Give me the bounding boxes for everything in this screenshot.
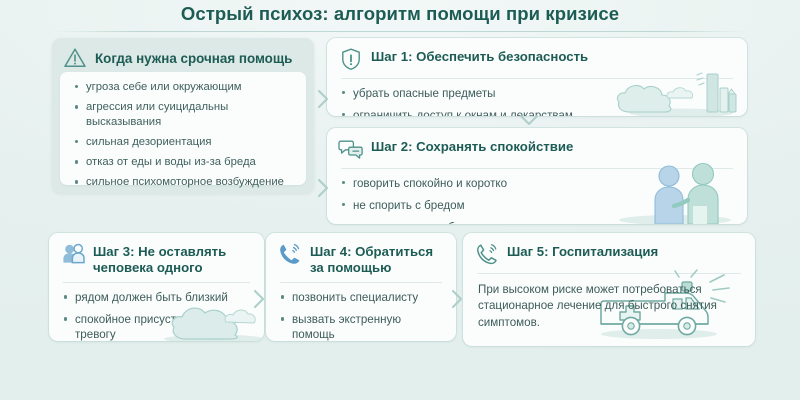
- step-3-list: рядом должен быть близкий спокойное прис…: [49, 283, 264, 341]
- step-4-list: позвонить специалисту вызвать экстренную…: [266, 283, 456, 341]
- list-item: отказ от еды и воды из-за бреда: [86, 155, 298, 170]
- shield-exclamation-icon: [338, 46, 364, 72]
- step-2-card: Шаг 2: Сохранять спокойствие говорить сп…: [327, 128, 747, 224]
- list-item: не спорить с бредом: [353, 198, 735, 213]
- urgent-help-list-box: угроза себе или окружающим агрессия или …: [60, 72, 306, 185]
- step-1-title: Шаг 1: Обеспечить безопасность: [371, 46, 588, 65]
- list-item: позвонить специалисту: [292, 290, 444, 305]
- connector-arrow-step-3-to-step-4: [252, 288, 266, 310]
- list-item: угроза себе или окружающим: [86, 80, 298, 95]
- warning-triangle-icon: [62, 45, 88, 71]
- urgent-help-title: Когда нужна срочная помощь: [95, 51, 292, 66]
- connector-arrow-step-1-to-step-2: [518, 113, 540, 127]
- connector-arrow-urgent-to-step-1: [316, 88, 330, 110]
- step-2-title: Шаг 2: Сохранять спокойствие: [371, 136, 573, 155]
- phone-ring-outline-icon: [474, 241, 500, 267]
- connector-arrow-step-2-to-step-3: [316, 177, 330, 199]
- urgent-help-list: угроза себе или окружающим агрессия или …: [60, 72, 306, 190]
- phone-call-icon: [277, 241, 303, 267]
- step-5-card: Шаг 5: Госпитализация При высоком риске …: [463, 233, 755, 346]
- list-item: не подтверждать бредовые идеи: [353, 220, 735, 224]
- urgent-help-header: Когда нужна срочная помощь: [52, 38, 314, 71]
- step-1-header: Шаг 1: Обеспечить безопасность: [327, 38, 747, 72]
- step-4-title: Шаг 4: Обратиться за помощью: [310, 241, 444, 276]
- two-persons-icon: [60, 241, 86, 267]
- urgent-help-panel: Когда нужна срочная помощь угроза себе и…: [52, 38, 314, 193]
- step-5-header: Шаг 5: Госпитализация: [463, 233, 755, 267]
- step-3-card: Шаг 3: Не оставлять чеповека одного рядо…: [49, 233, 264, 341]
- step-1-card: Шаг 1: Обеспечить безопасность убрать оп…: [327, 38, 747, 116]
- list-item: говорить спокойно и коротко: [353, 176, 735, 191]
- step-4-card: Шаг 4: Обратиться за помощью позвонить с…: [266, 233, 456, 341]
- page-title: Острый психоз: алгоритм помощи при кризи…: [0, 3, 800, 25]
- speech-bubbles-icon: [338, 136, 364, 162]
- infographic-page: Острый психоз: алгоритм помощи при кризи…: [0, 0, 800, 400]
- step-5-title: Шаг 5: Госпитализация: [507, 241, 658, 260]
- list-item: рядом должен быть близкий: [75, 290, 252, 305]
- list-item: убрать опасные предметы: [353, 86, 735, 101]
- step-3-title: Шаг 3: Не оставлять чеповека одного: [93, 241, 252, 276]
- connector-arrow-step-4-to-step-5: [450, 288, 464, 310]
- step-1-list: убрать опасные предметы ограничить досту…: [327, 79, 747, 116]
- step-5-description: При высоком риске может потребоваться ст…: [463, 274, 755, 331]
- step-2-header: Шаг 2: Сохранять спокойствие: [327, 128, 747, 162]
- list-item: агрессия или суицидальны высказывания: [86, 100, 298, 129]
- list-item: спокойное присусттвие снижает тревогу: [75, 312, 252, 341]
- list-item: сильная дезориентация: [86, 135, 298, 150]
- title-divider: [54, 31, 746, 32]
- step-3-header: Шаг 3: Не оставлять чеповека одного: [49, 233, 264, 276]
- step-2-list: говорить спокойно и коротко не спорить с…: [327, 169, 747, 224]
- step-4-header: Шаг 4: Обратиться за помощью: [266, 233, 456, 276]
- list-item: вызвать экстренную помощь: [292, 312, 444, 341]
- list-item: ограничить доступ к окнам и лекарствам: [353, 108, 735, 116]
- list-item: сильное психомоторное возбуждение: [86, 175, 298, 190]
